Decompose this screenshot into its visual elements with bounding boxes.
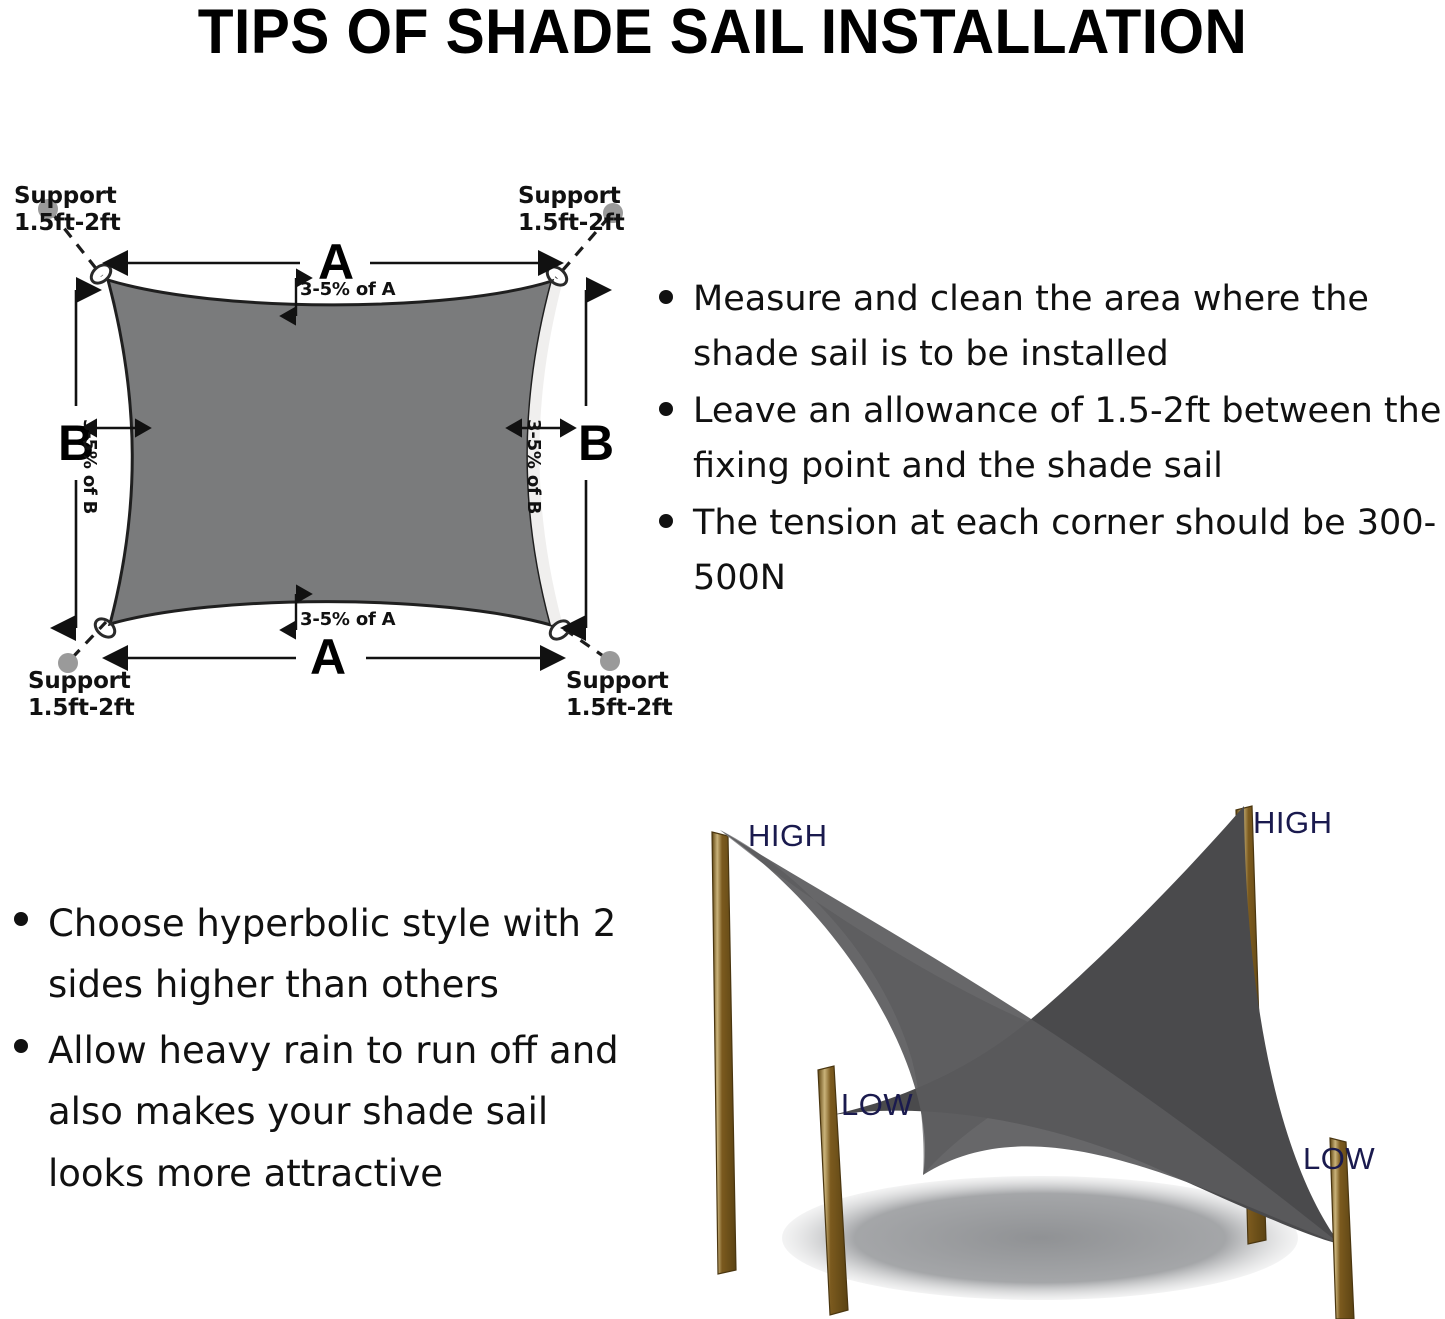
curve-label-left: 3-5% of B <box>79 419 100 514</box>
support-label-bottom-left: Support 1.5ft-2ft <box>28 668 135 722</box>
curve-label-bottom: 3-5% of A <box>300 609 395 630</box>
label-low-left: LOW <box>841 1087 913 1123</box>
support-label-bottom-right: Support 1.5ft-2ft <box>566 668 673 722</box>
tip-text: Choose hyperbolic style with 2 sides hig… <box>48 893 620 1016</box>
dimension-letter-b-right: B <box>578 418 614 468</box>
page-title: TIPS OF SHADE SAIL INSTALLATION <box>51 0 1395 68</box>
bullet-dot-icon <box>659 290 673 304</box>
support-label-line1: Support <box>518 183 621 209</box>
infographic-page: TIPS OF SHADE SAIL INSTALLATION <box>0 0 1445 1319</box>
support-label-line1: Support <box>14 183 117 209</box>
support-label-line2: 1.5ft-2ft <box>518 210 625 236</box>
support-label-line2: 1.5ft-2ft <box>566 695 673 721</box>
list-item: Leave an allowance of 1.5-2ft between th… <box>645 384 1445 494</box>
list-item: Allow heavy rain to run off and also mak… <box>0 1020 620 1204</box>
support-label-line1: Support <box>566 668 669 694</box>
list-item: The tension at each corner should be 300… <box>645 496 1445 606</box>
label-high-right: HIGH <box>1253 805 1333 841</box>
list-item: Choose hyperbolic style with 2 sides hig… <box>0 893 620 1016</box>
tip-text: Allow heavy rain to run off and also mak… <box>48 1020 620 1204</box>
support-label-top-left: Support 1.5ft-2ft <box>14 183 121 237</box>
list-item: Measure and clean the area where the sha… <box>645 272 1445 382</box>
bullet-dot-icon <box>659 514 673 528</box>
dimension-letter-a-bottom: A <box>310 632 346 682</box>
label-high-left: HIGH <box>748 818 828 854</box>
curve-label-top: 3-5% of A <box>300 279 395 300</box>
bullet-dot-icon <box>659 402 673 416</box>
curve-label-right: 3-5% of B <box>523 419 544 514</box>
support-label-top-right: Support 1.5ft-2ft <box>518 183 625 237</box>
post-back-left <box>712 832 736 1274</box>
support-label-line2: 1.5ft-2ft <box>14 210 121 236</box>
bullet-dot-icon <box>14 1039 28 1053</box>
sail-shape <box>108 280 552 625</box>
tip-text: Measure and clean the area where the sha… <box>693 272 1445 382</box>
tips-list-left: Choose hyperbolic style with 2 sides hig… <box>0 893 620 1208</box>
tips-list-right: Measure and clean the area where the sha… <box>645 272 1445 608</box>
tip-text: The tension at each corner should be 300… <box>693 496 1445 606</box>
label-low-right: LOW <box>1303 1141 1375 1177</box>
tip-text: Leave an allowance of 1.5-2ft between th… <box>693 384 1445 494</box>
bullet-dot-icon <box>14 912 28 926</box>
support-label-line1: Support <box>28 668 131 694</box>
support-label-line2: 1.5ft-2ft <box>28 695 135 721</box>
